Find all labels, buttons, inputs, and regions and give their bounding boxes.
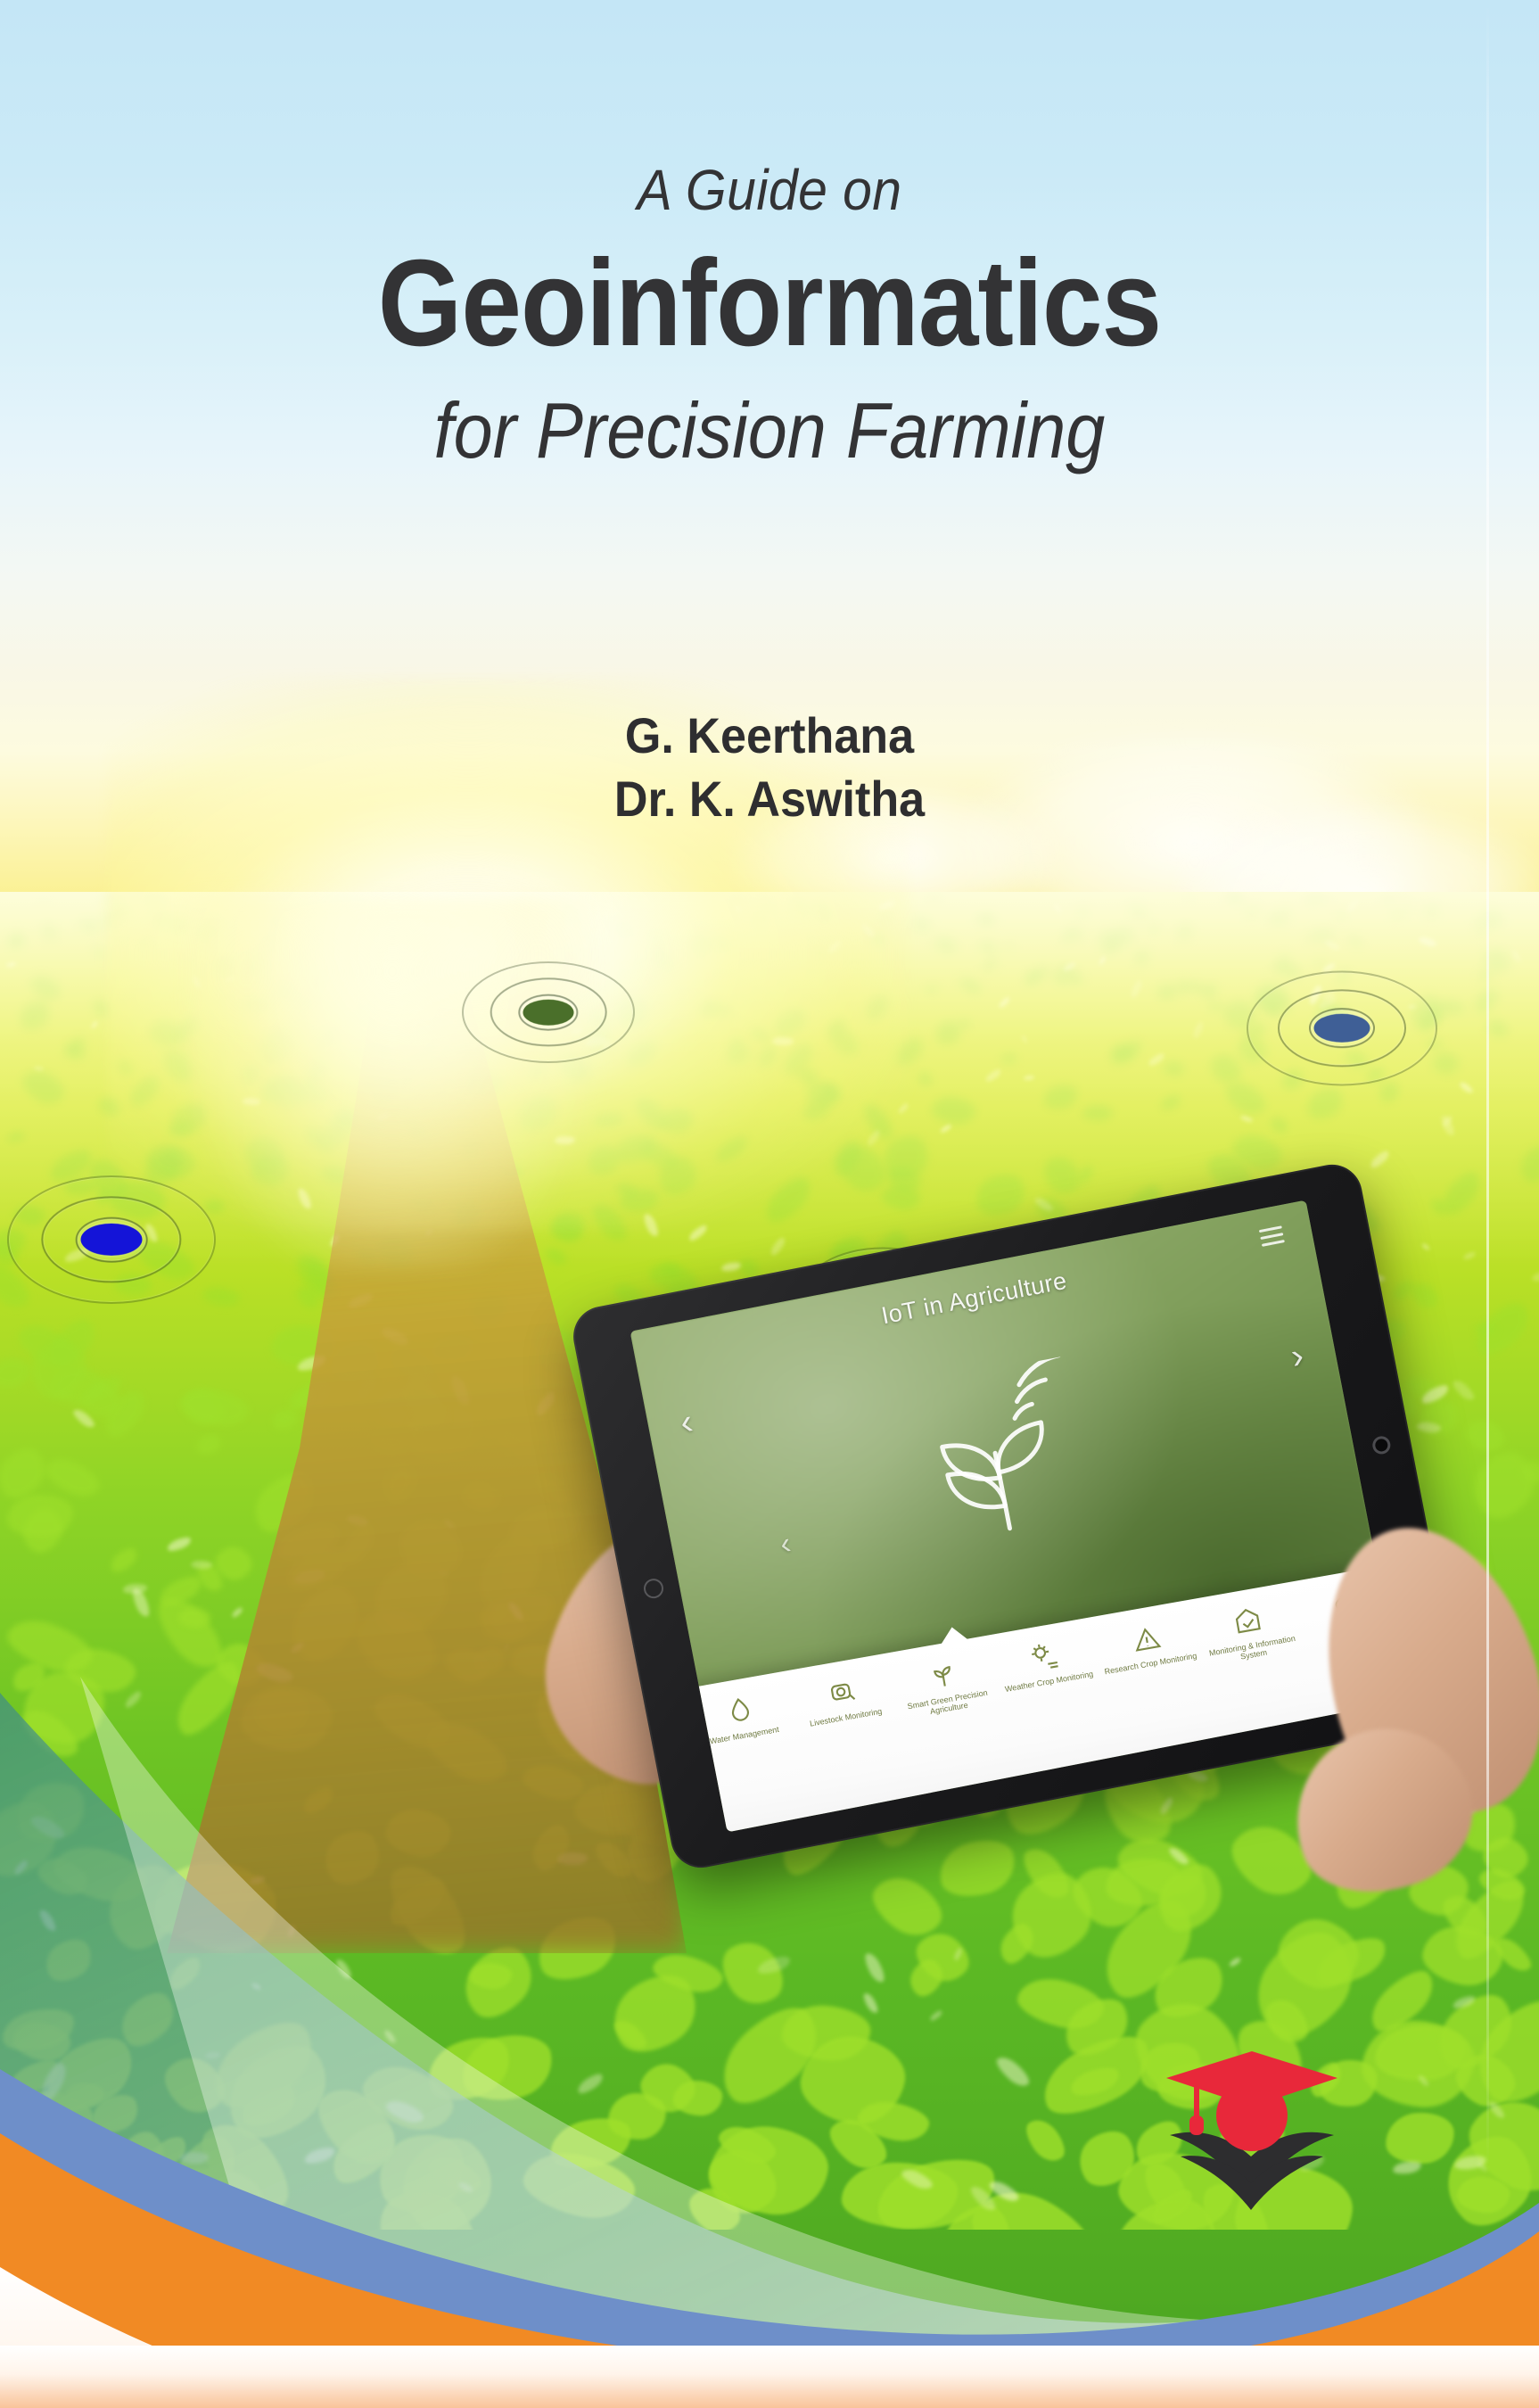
foliage-leaf	[193, 1431, 223, 1457]
title-block: A Guide on Geoinformatics for Precision …	[0, 157, 1539, 474]
foliage-leaf	[107, 1545, 142, 1577]
foliage-highlight	[231, 1606, 243, 1618]
author-name: G. Keerthana	[53, 705, 1485, 768]
series-line: A Guide on	[62, 157, 1477, 223]
foliage-highlight	[166, 1535, 193, 1553]
page-subtitle: for Precision Farming	[77, 388, 1461, 474]
home-button[interactable]	[642, 1577, 665, 1600]
foliage-highlight	[129, 1587, 152, 1619]
sensor-node-left	[9, 1177, 214, 1302]
sensor-dot	[523, 1000, 574, 1026]
foliage-leaf	[177, 1382, 251, 1431]
author-name: Dr. K. Aswitha	[53, 768, 1485, 831]
camera-icon	[1374, 1438, 1388, 1452]
foliage-highlight	[1532, 1270, 1539, 1283]
geo-location-icon	[1230, 1604, 1265, 1638]
tray-item-4[interactable]: Research Crop Monitoring	[1095, 1615, 1201, 1677]
tray-item-label: Research Crop Monitoring	[1101, 1651, 1201, 1678]
author-block: G. Keerthana Dr. K. Aswitha	[0, 705, 1539, 830]
tray-item-5[interactable]: Monitoring & Information System	[1197, 1597, 1304, 1668]
book-cover: IoT in Agriculture ‹ ‹ ›	[0, 0, 1539, 2408]
sensor-dot	[1314, 1013, 1370, 1043]
tray-item-label: Monitoring & Information System	[1203, 1632, 1304, 1668]
disease-alert-icon	[1129, 1621, 1164, 1656]
path-glow	[187, 896, 597, 1271]
sensor-node-right	[1248, 972, 1436, 1084]
foliage-leaf	[269, 1406, 300, 1432]
foliage-leaf	[7, 1495, 73, 1538]
graduation-cap-book-logo	[1159, 2042, 1346, 2221]
sensor-node-center	[464, 963, 633, 1061]
page-title: Geoinformatics	[93, 241, 1447, 367]
weather-monitoring-icon	[1027, 1639, 1062, 1674]
foliage-leaf	[0, 1357, 32, 1390]
